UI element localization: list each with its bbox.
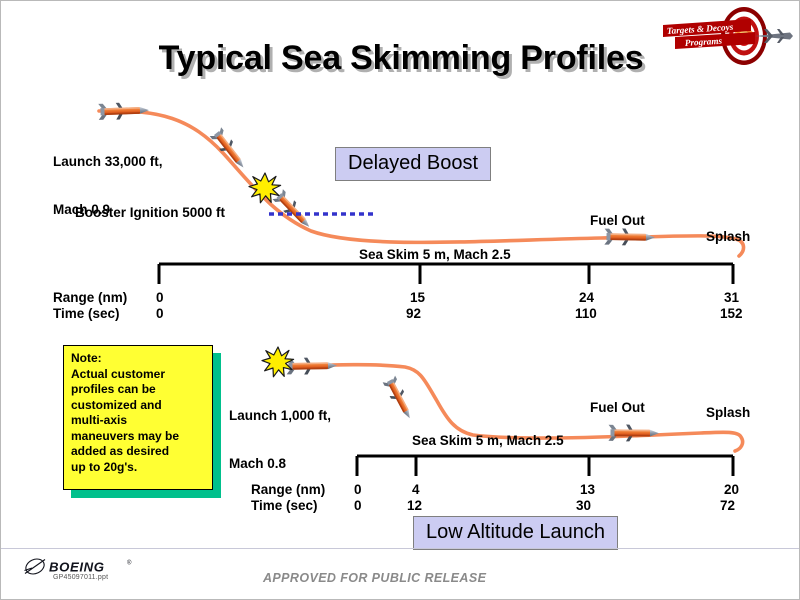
note-line-4: multi-axis [71, 413, 206, 429]
lower-time-row-label: Time (sec) [251, 498, 318, 513]
lower-scale-axis [357, 456, 733, 476]
boeing-wordmark: BOEING [49, 560, 105, 575]
lower-range-value-0: 0 [354, 482, 362, 497]
lower-splash-label: Splash [706, 405, 750, 421]
lower-time-value-1: 12 [407, 498, 422, 513]
footer-divider [1, 548, 800, 549]
lower-time-value-0: 0 [354, 498, 362, 513]
lower-time-value-2: 30 [576, 498, 591, 513]
lower-range-value-3: 20 [724, 482, 739, 497]
upper-missile-fuel-out [604, 228, 655, 246]
public-release-notice: APPROVED FOR PUBLIC RELEASE [263, 571, 486, 585]
note-line-1: Actual customer [71, 367, 206, 383]
lower-fuel-out-label: Fuel Out [590, 400, 645, 416]
upper-missile-launch [98, 102, 149, 121]
upper-scale-labels: Range (nm) Time (sec) 0 15 24 31 0 92 11… [1, 290, 800, 324]
note-title: Note: [71, 351, 206, 367]
upper-range-value-2: 24 [579, 290, 594, 305]
upper-missile-descent-1 [209, 127, 249, 172]
lower-missile-fuel-out [608, 424, 659, 441]
boeing-registered-mark: ® [127, 560, 132, 567]
upper-range-value-0: 0 [156, 290, 164, 305]
lower-scale-labels: Range (nm) Time (sec) 0 4 13 20 0 12 30 … [1, 482, 800, 516]
lower-range-row-label: Range (nm) [251, 482, 325, 497]
note-line-5: maneuvers may be [71, 429, 206, 445]
note-line-2: profiles can be [71, 382, 206, 398]
upper-sea-skim-label: Sea Skim 5 m, Mach 2.5 [359, 247, 511, 263]
note-box: Note: Actual customer profiles can be cu… [63, 345, 213, 490]
upper-fuel-out-label: Fuel Out [590, 213, 645, 229]
upper-time-value-3: 152 [720, 306, 743, 321]
upper-range-value-1: 15 [410, 290, 425, 305]
lower-launch-label-line2: Mach 0.8 [229, 456, 331, 472]
lower-launch-label-line1: Launch 1,000 ft, [229, 408, 331, 424]
booster-ignition-label: Booster Ignition 5000 ft [75, 205, 225, 221]
note-line-7: up to 20g's. [71, 460, 206, 476]
upper-time-value-0: 0 [156, 306, 164, 321]
upper-range-row-label: Range (nm) [53, 290, 127, 305]
delayed-boost-callout[interactable]: Delayed Boost [335, 147, 491, 181]
document-id: GP45097011.ppt [53, 574, 108, 581]
upper-launch-label-line1: Launch 33,000 ft, [53, 154, 163, 170]
upper-scale-axis [159, 264, 733, 284]
upper-range-value-3: 31 [724, 290, 739, 305]
upper-splash-label: Splash [706, 229, 750, 245]
upper-time-value-2: 110 [575, 306, 597, 321]
slide-canvas: Targets & Decoys Programs Typical Sea Sk… [0, 0, 800, 600]
upper-time-value-1: 92 [406, 306, 421, 321]
low-altitude-launch-callout[interactable]: Low Altitude Launch [413, 516, 618, 550]
boeing-swoosh-icon [23, 556, 46, 577]
upper-launch-label: Launch 33,000 ft, Mach 0.9 [53, 122, 163, 250]
note-line-3: customized and [71, 398, 206, 414]
note-line-6: added as desired [71, 444, 206, 460]
upper-time-row-label: Time (sec) [53, 306, 120, 321]
lower-time-value-3: 72 [720, 498, 735, 513]
lower-sea-skim-label: Sea Skim 5 m, Mach 2.5 [412, 433, 564, 449]
lower-range-value-1: 4 [412, 482, 420, 497]
lower-range-value-2: 13 [580, 482, 595, 497]
lower-missile-descent [382, 375, 416, 421]
